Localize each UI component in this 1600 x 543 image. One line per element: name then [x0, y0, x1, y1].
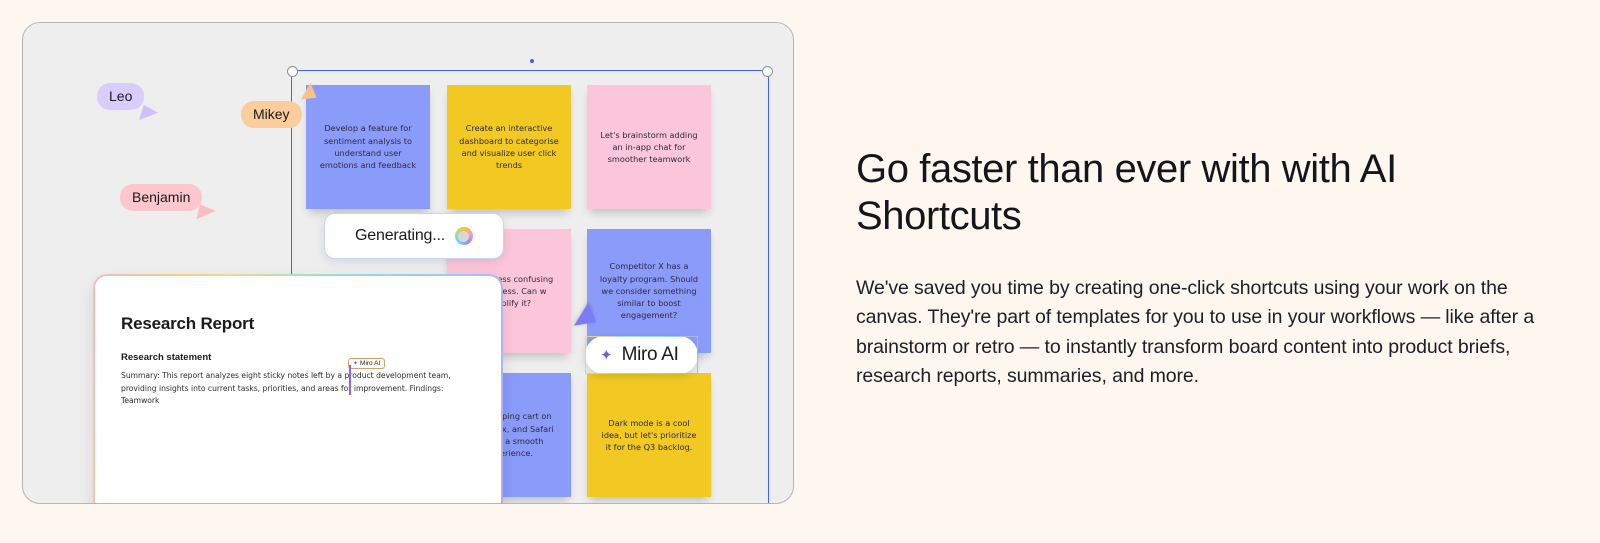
collaborator-name-tag: Mikey — [241, 101, 302, 128]
sticky-note[interactable]: Create an interactive dashboard to categ… — [447, 85, 571, 209]
miro-ai-typing-caret: ✦ Miro AI — [348, 352, 385, 370]
miro-ai-button[interactable]: ✦ Miro AI — [585, 336, 698, 374]
selection-handle-top-right[interactable] — [762, 66, 773, 77]
page-headline: Go faster than ever with with AI Shortcu… — [856, 146, 1466, 240]
sticky-note[interactable]: Competitor X has a loyalty program. Shou… — [587, 229, 711, 353]
miro-ai-button-label: Miro AI — [622, 344, 679, 366]
research-report-title: Research Report — [121, 314, 475, 334]
sticky-note-text: Dark mode is a cool idea, but let's prio… — [599, 417, 699, 454]
sticky-note[interactable]: Let's brainstorm adding an in-app chat f… — [587, 85, 711, 209]
sticky-note[interactable]: Dark mode is a cool idea, but let's prio… — [587, 373, 711, 497]
cursor-arrow-icon — [139, 105, 159, 125]
sticky-note[interactable]: Develop a feature for sentiment analysis… — [306, 85, 430, 209]
collaborator-name-tag: Leo — [97, 83, 144, 110]
page-body-copy: We've saved you time by creating one-cli… — [856, 274, 1536, 393]
loading-spinner-icon — [455, 227, 473, 245]
research-report-summary: Summary: This report analyzes eight stic… — [121, 370, 475, 408]
text-caret — [349, 365, 351, 395]
selection-marker-dot — [530, 59, 534, 63]
sparkle-icon: ✦ — [600, 348, 613, 363]
generating-toast-label: Generating... — [355, 227, 445, 245]
generating-toast: Generating... — [324, 213, 504, 259]
collaborator-cursor-leo: Leo — [97, 83, 144, 110]
marketing-copy-column: Go faster than ever with with AI Shortcu… — [856, 146, 1536, 392]
collaborator-cursor-mikey: Mikey — [241, 101, 302, 128]
sparkle-icon: ✦ — [353, 360, 358, 367]
sticky-note-text: Competitor X has a loyalty program. Shou… — [599, 260, 699, 321]
research-report-subtitle: Research statement — [121, 352, 475, 363]
research-report-card[interactable]: Research Report Research statement Summa… — [93, 274, 503, 504]
miro-canvas-panel[interactable]: Develop a feature for sentiment analysis… — [22, 22, 794, 504]
selection-handle-top-left[interactable] — [287, 66, 298, 77]
collaborator-name-tag: Benjamin — [120, 184, 202, 211]
miro-ai-caret-label: Miro AI — [360, 360, 380, 367]
sticky-note-text: Develop a feature for sentiment analysis… — [318, 122, 418, 171]
research-report-body: Research Report Research statement Summa… — [95, 276, 501, 504]
sticky-note-text: Let's brainstorm adding an in-app chat f… — [599, 129, 699, 166]
sticky-note-text: Create an interactive dashboard to categ… — [459, 122, 559, 171]
miro-ai-caret-tag: ✦ Miro AI — [348, 358, 385, 369]
collaborator-cursor-benjamin: Benjamin — [120, 184, 202, 211]
cursor-arrow-icon — [197, 204, 217, 222]
page-root: Develop a feature for sentiment analysis… — [0, 0, 1600, 543]
